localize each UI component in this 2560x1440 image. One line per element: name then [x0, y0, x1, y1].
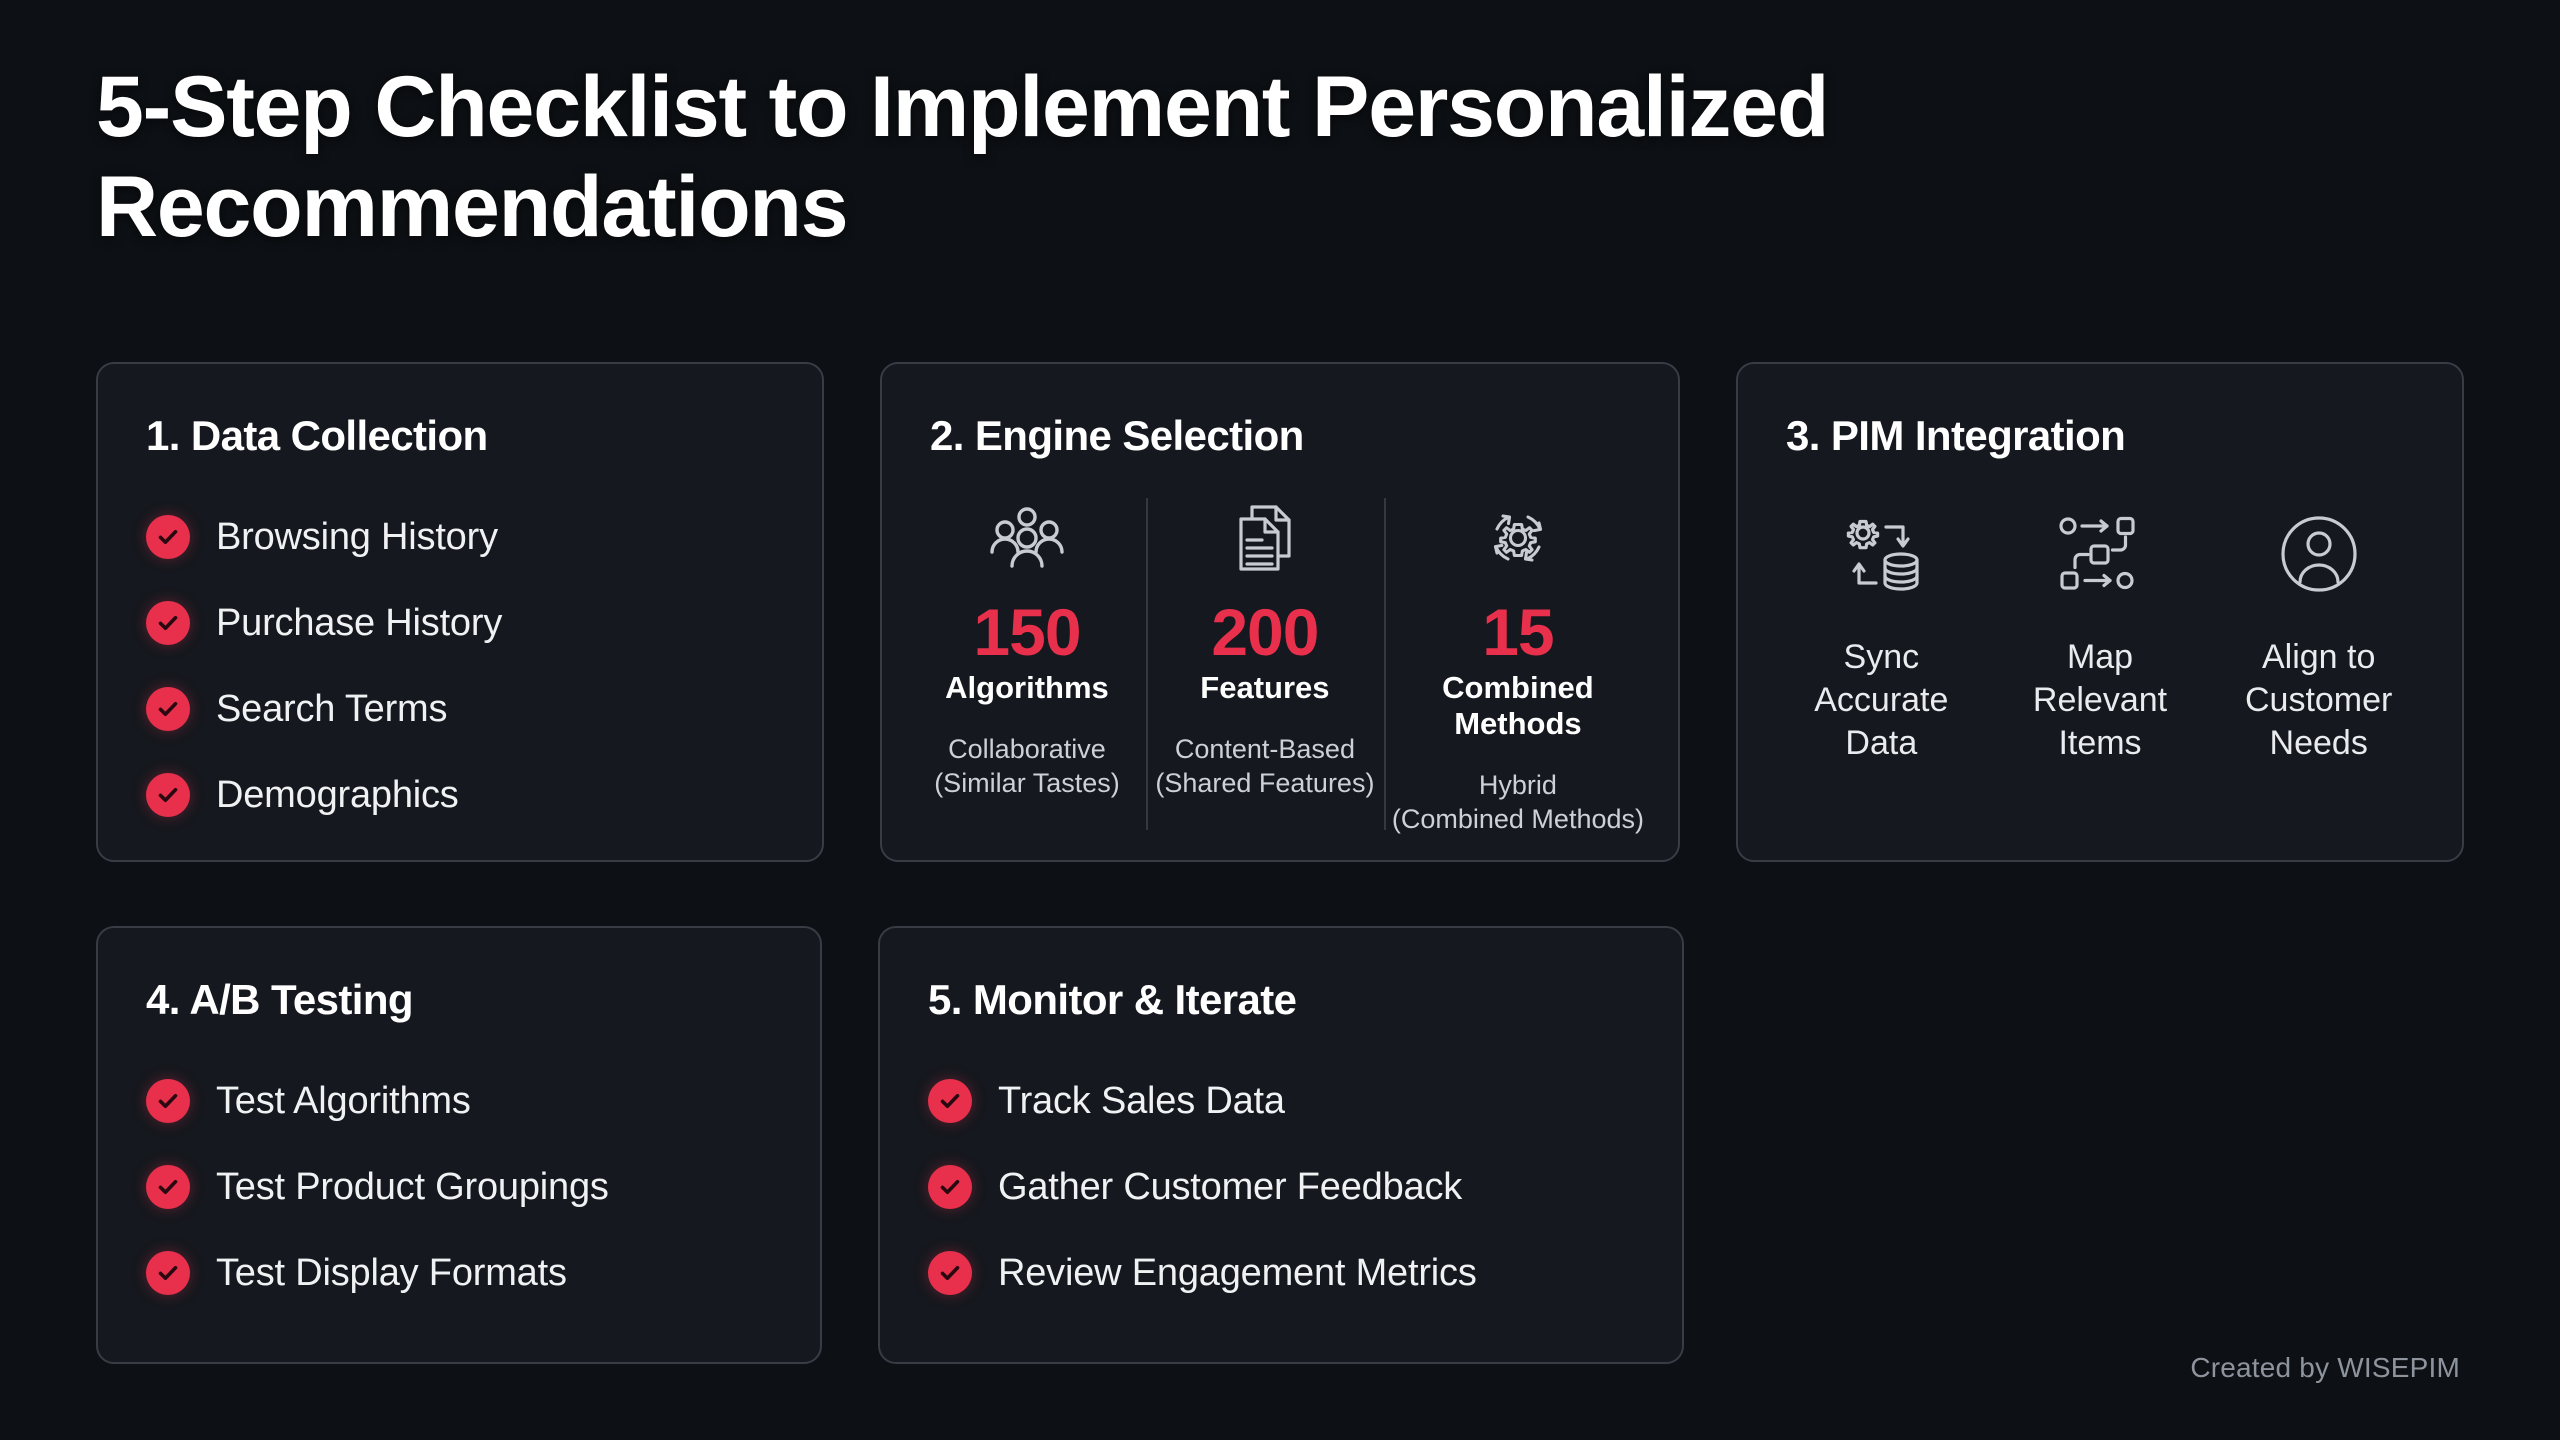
stat-label: Combined Methods — [1392, 670, 1644, 742]
pillar-map-relevant-items: Map Relevant Items — [1991, 496, 2210, 764]
cards-row-bottom: 4. A/B Testing Test Algorithms Test Prod… — [96, 926, 1684, 1364]
mapping-flow-icon — [1991, 496, 2210, 612]
checklist-data-collection: Browsing History Purchase History Search… — [98, 460, 822, 838]
list-item[interactable]: Review Engagement Metrics — [928, 1230, 1682, 1316]
check-circle-icon — [146, 773, 190, 817]
sync-database-icon — [1772, 496, 1991, 612]
list-item-label: Gather Customer Feedback — [998, 1166, 1462, 1209]
card-engine-selection: 2. Engine Selection — [880, 362, 1680, 862]
stat-sub-main: Collaborative — [948, 734, 1106, 764]
pillar-label-line2: Accurate — [1772, 679, 1991, 722]
pillar-label-line1: Sync — [1772, 636, 1991, 679]
pillar-label-line2: Relevant — [1991, 679, 2210, 722]
check-circle-icon — [146, 687, 190, 731]
stat-sub: Content-Based (Shared Features) — [1154, 732, 1376, 800]
pillar-label-line1: Map — [1991, 636, 2210, 679]
pillar-label-line1: Align to — [2209, 636, 2428, 679]
stat-label-line1: Combined — [1442, 670, 1594, 705]
list-item-label: Browsing History — [216, 516, 498, 559]
pillar-align-customer-needs: Align to Customer Needs — [2209, 496, 2428, 764]
list-item[interactable]: Test Display Formats — [146, 1230, 820, 1316]
pillar-label: Sync Accurate Data — [1772, 636, 1991, 764]
list-item-label: Track Sales Data — [998, 1080, 1285, 1123]
check-circle-icon — [146, 1165, 190, 1209]
stat-value: 150 — [916, 598, 1138, 668]
cards-row-top: 1. Data Collection Browsing History Purc… — [96, 362, 2464, 862]
list-item[interactable]: Browsing History — [146, 494, 822, 580]
checklist-ab-testing: Test Algorithms Test Product Groupings T… — [98, 1024, 820, 1316]
stat-value: 15 — [1392, 598, 1644, 668]
stat-sub-main: Content-Based — [1175, 734, 1355, 764]
pillar-label-line3: Data — [1772, 722, 1991, 765]
check-circle-icon — [146, 1251, 190, 1295]
card-title-ab-testing: 4. A/B Testing — [98, 928, 820, 1024]
infographic-stage: 5-Step Checklist to Implement Personaliz… — [0, 0, 2560, 1440]
list-item[interactable]: Gather Customer Feedback — [928, 1144, 1682, 1230]
list-item-label: Test Algorithms — [216, 1080, 471, 1123]
card-pim-integration: 3. PIM Integration — [1736, 362, 2464, 862]
check-circle-icon — [146, 515, 190, 559]
stat-content-based: 200 Features Content-Based (Shared Featu… — [1146, 488, 1384, 836]
check-circle-icon — [146, 1079, 190, 1123]
footer-credit: Created by WISEPIM — [2190, 1352, 2460, 1384]
pillar-label-line2: Customer — [2209, 679, 2428, 722]
list-item-label: Test Display Formats — [216, 1252, 567, 1295]
people-group-icon — [916, 488, 1138, 588]
list-item[interactable]: Test Algorithms — [146, 1058, 820, 1144]
check-circle-icon — [928, 1165, 972, 1209]
list-item-label: Demographics — [216, 774, 459, 817]
check-circle-icon — [928, 1251, 972, 1295]
card-title-monitor-iterate: 5. Monitor & Iterate — [880, 928, 1682, 1024]
stat-sub-paren: (Combined Methods) — [1392, 802, 1644, 836]
stat-label: Algorithms — [916, 670, 1138, 706]
card-title-engine-selection: 2. Engine Selection — [882, 364, 1678, 460]
stat-hybrid: 15 Combined Methods Hybrid (Combined Met… — [1384, 488, 1652, 836]
stat-collaborative: 150 Algorithms Collaborative (Similar Ta… — [908, 488, 1146, 836]
pillar-sync-accurate-data: Sync Accurate Data — [1772, 496, 1991, 764]
user-circle-icon — [2209, 496, 2428, 612]
card-data-collection: 1. Data Collection Browsing History Purc… — [96, 362, 824, 862]
list-item[interactable]: Track Sales Data — [928, 1058, 1682, 1144]
stat-sub: Collaborative (Similar Tastes) — [916, 732, 1138, 800]
pillar-label-line3: Items — [1991, 722, 2210, 765]
stat-sub-main: Hybrid — [1479, 770, 1557, 800]
stat-sub-paren: (Similar Tastes) — [916, 766, 1138, 800]
stat-sub-paren: (Shared Features) — [1154, 766, 1376, 800]
check-circle-icon — [928, 1079, 972, 1123]
card-monitor-iterate: 5. Monitor & Iterate Track Sales Data Ga… — [878, 926, 1684, 1364]
list-item-label: Search Terms — [216, 688, 447, 731]
pillar-label: Align to Customer Needs — [2209, 636, 2428, 764]
list-item[interactable]: Test Product Groupings — [146, 1144, 820, 1230]
check-circle-icon — [146, 601, 190, 645]
pillars-group: Sync Accurate Data — [1738, 460, 2462, 764]
card-title-data-collection: 1. Data Collection — [98, 364, 822, 460]
list-item[interactable]: Demographics — [146, 752, 822, 838]
stat-label: Features — [1154, 670, 1376, 706]
list-item-label: Test Product Groupings — [216, 1166, 609, 1209]
list-item[interactable]: Search Terms — [146, 666, 822, 752]
stat-sub: Hybrid (Combined Methods) — [1392, 768, 1644, 836]
card-ab-testing: 4. A/B Testing Test Algorithms Test Prod… — [96, 926, 822, 1364]
documents-icon — [1154, 488, 1376, 588]
list-item-label: Review Engagement Metrics — [998, 1252, 1477, 1295]
list-item[interactable]: Purchase History — [146, 580, 822, 666]
pillar-label-line3: Needs — [2209, 722, 2428, 765]
pillar-label: Map Relevant Items — [1991, 636, 2210, 764]
checklist-monitor-iterate: Track Sales Data Gather Customer Feedbac… — [880, 1024, 1682, 1316]
stat-label-line2: Methods — [1454, 706, 1581, 741]
list-item-label: Purchase History — [216, 602, 502, 645]
gear-cycle-icon — [1392, 488, 1644, 588]
stat-value: 200 — [1154, 598, 1376, 668]
card-title-pim-integration: 3. PIM Integration — [1738, 364, 2462, 460]
page-title: 5-Step Checklist to Implement Personaliz… — [96, 58, 2496, 258]
stats-group: 150 Algorithms Collaborative (Similar Ta… — [882, 460, 1678, 836]
